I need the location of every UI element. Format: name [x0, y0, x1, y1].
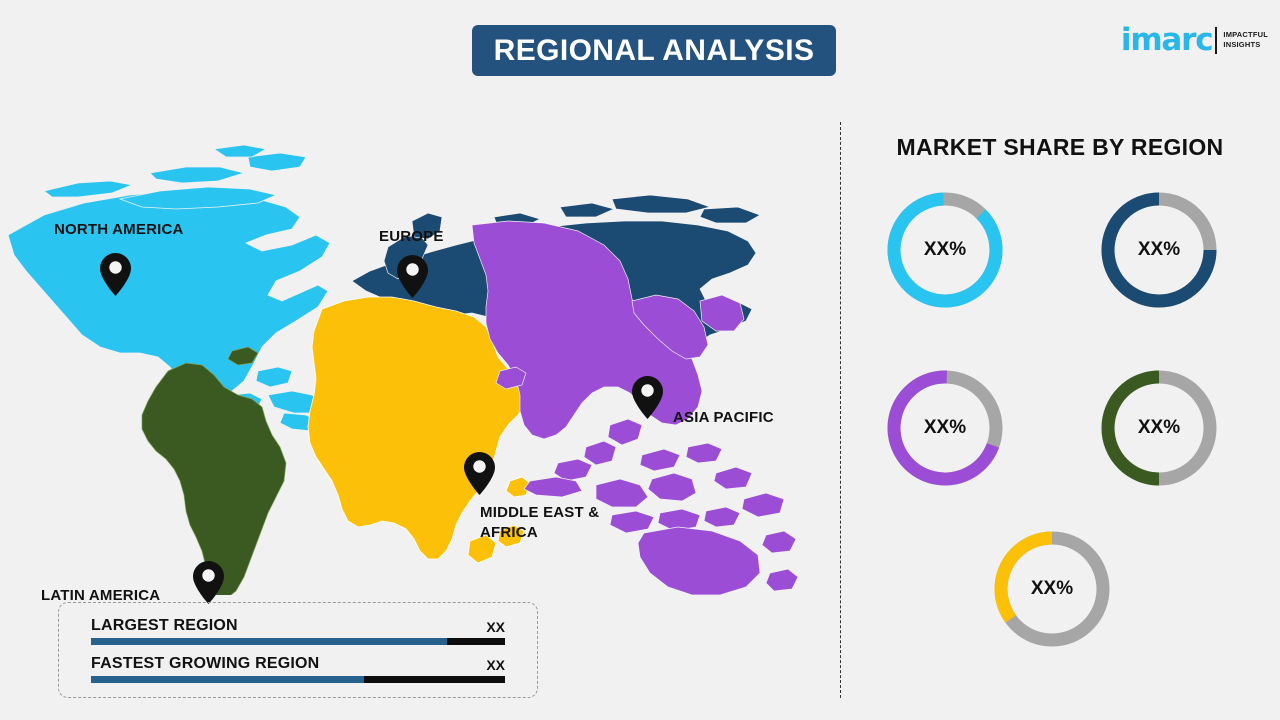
donut-value-label: XX% [1095, 364, 1223, 492]
legend-row-largest-region: LARGEST REGION XX [91, 617, 505, 645]
map-label-asia-pacific: ASIA PACIFIC [673, 408, 774, 428]
map-pin-icon-europe[interactable] [397, 255, 428, 298]
donut-chart-asia-pacific: XX% [881, 364, 1009, 492]
donut-value-label: XX% [1095, 186, 1223, 314]
donut-chart-latin-america: XX% [1095, 364, 1223, 492]
page-title-banner: REGIONAL ANALYSIS [472, 25, 836, 76]
imarc-logo: imarc IMPACTFUL INSIGHTS [1121, 20, 1268, 60]
legend-bar-fastest-growing-region [91, 676, 505, 683]
map-pin-icon-latin-america[interactable] [193, 561, 224, 604]
region-summary-box: LARGEST REGION XX FASTEST GROWING REGION… [58, 602, 538, 698]
page-title: REGIONAL ANALYSIS [494, 34, 815, 68]
map-pin-icon-north-america[interactable] [100, 253, 131, 296]
world-map-svg [0, 95, 820, 595]
map-pin-icon-asia-pacific[interactable] [632, 376, 663, 419]
donut-chart-grid: XX% XX% XX% XX% XX% [856, 186, 1268, 696]
donut-value-label: XX% [988, 525, 1116, 653]
map-label-north-america: NORTH AMERICA [54, 220, 184, 240]
map-label-middle-east-africa: MIDDLE EAST & AFRICA [480, 503, 620, 544]
legend-bar-fill-largest-region [91, 638, 447, 645]
logo-divider [1215, 27, 1217, 54]
map-label-middle-east-line2: AFRICA [480, 524, 538, 541]
legend-bar-largest-region [91, 638, 505, 645]
donut-value-label: XX% [881, 186, 1009, 314]
donut-chart-europe: XX% [1095, 186, 1223, 314]
logo-wordmark: imarc [1121, 25, 1213, 56]
donut-value-label: XX% [881, 364, 1009, 492]
map-label-europe: EUROPE [379, 227, 444, 247]
donut-chart-middle-east-africa: XX% [988, 525, 1116, 653]
logo-tagline-line2: INSIGHTS [1223, 40, 1260, 49]
legend-bar-fill-fastest-growing-region [91, 676, 364, 683]
legend-label-fastest-growing-region: FASTEST GROWING REGION [91, 655, 319, 673]
map-label-middle-east-line1: MIDDLE EAST & [480, 504, 599, 521]
legend-label-largest-region: LARGEST REGION [91, 617, 238, 635]
legend-value-fastest-growing-region: XX [486, 657, 505, 673]
market-share-heading: MARKET SHARE BY REGION [840, 134, 1280, 161]
map-pin-icon-middle-east-africa[interactable] [464, 452, 495, 495]
panel-divider [840, 122, 841, 698]
legend-value-largest-region: XX [486, 619, 505, 635]
world-map-container: NORTH AMERICA EUROPE ASIA PACIFIC MIDDLE… [0, 95, 820, 595]
donut-chart-north-america: XX% [881, 186, 1009, 314]
logo-tagline: IMPACTFUL INSIGHTS [1223, 30, 1268, 50]
legend-row-fastest-growing-region: FASTEST GROWING REGION XX [91, 655, 505, 683]
logo-tagline-line1: IMPACTFUL [1223, 30, 1268, 39]
